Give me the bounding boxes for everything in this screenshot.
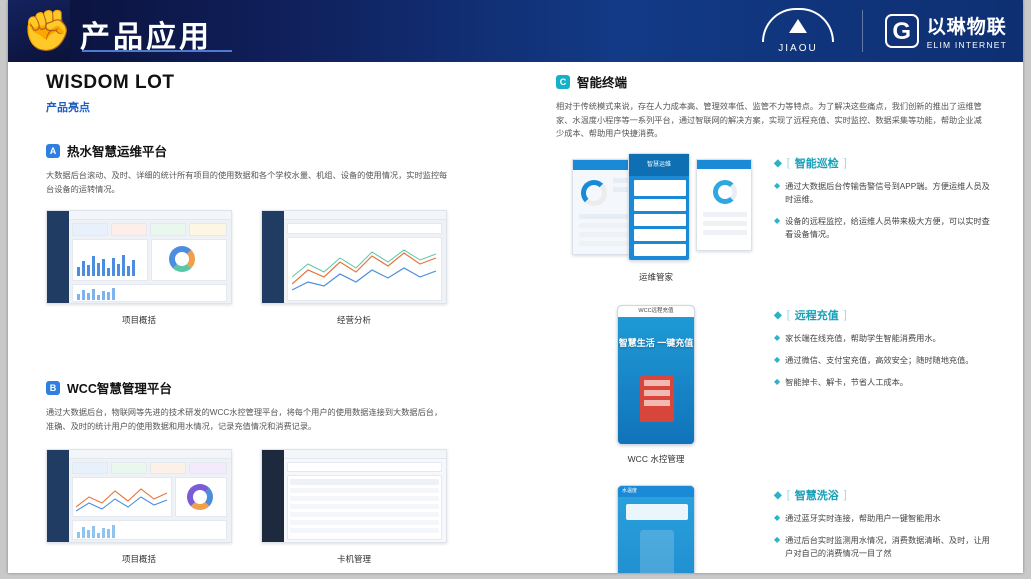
page-body: WISDOM LOT 产品亮点 A 热水智慧运维平台 大数据后台滚动、及时、详细…: [8, 62, 1023, 573]
ops-phone-title: 智慧运维: [629, 154, 689, 176]
section-c-header: C 智能终端: [556, 72, 996, 91]
bracket-right-icon: ]: [844, 157, 847, 169]
list-item: ◆ 通过后台实时监测用水情况，消费数据清晰、及时，让用户对自己的消费情况一目了然: [774, 534, 996, 560]
list-item-text: 通过大数据后台传输告警信号到APP端。方便运维人员及时运维。: [785, 180, 996, 206]
screenshot-image-business-analysis: [261, 210, 447, 304]
section-b-screenshots: 项目概括: [46, 449, 466, 565]
bullet-title-text: 智慧洗浴: [795, 487, 839, 503]
screenshot-temp-phone: 水温度: [617, 485, 695, 573]
mini-content: [284, 459, 446, 542]
temp-bullets: ◆ [ 智慧洗浴 ] ◆ 通过蓝牙实时连接，帮助用户一键智能用水 ◆ 通过后台实…: [774, 485, 996, 561]
diamond-icon: ◆: [774, 490, 782, 501]
list-item: ◆ 通过蓝牙实时连接，帮助用户一键智能用水: [774, 512, 996, 525]
bullet-dot-icon: ◆: [774, 332, 780, 345]
section-a-body: 大数据后台滚动、及时、详细的统计所有项目的使用数据和各个学校水量、机组、设备的使…: [46, 169, 450, 196]
screenshot-caption: 卡机管理: [261, 553, 447, 565]
elim-mark-icon: [885, 14, 919, 48]
section-b-title: WCC智慧管理平台: [67, 378, 172, 397]
line-chart-icon: [76, 483, 168, 513]
list-item-text: 通过蓝牙实时连接，帮助用户一键智能用水: [785, 512, 941, 525]
wisdom-subheading: 产品亮点: [46, 99, 466, 115]
terminal-caption: WCC 水控管理: [628, 453, 685, 465]
terminal-block-wcc: WCC远程充值 智慧生活 一键充值 WCC 水控管理 ◆ [ 远程充值: [556, 305, 996, 465]
screenshot-item: 项目概括: [46, 210, 232, 326]
jiaou-arc-icon: [762, 8, 834, 42]
bullet-title-text: 远程充值: [795, 307, 839, 323]
fist-icon: ✊: [22, 8, 56, 54]
screenshot-wcc-phone: WCC远程充值 智慧生活 一键充值: [617, 305, 695, 445]
screenshot-ops-detail: [696, 159, 752, 251]
jiaou-label: JIAOU: [751, 43, 845, 54]
ops-bullets: ◆ [ 智能巡检 ] ◆ 通过大数据后台传输告警信号到APP端。方便运维人员及时…: [774, 153, 996, 242]
diamond-icon: ◆: [774, 158, 782, 169]
section-a-title: 热水智慧运维平台: [67, 141, 167, 160]
bullet-dot-icon: ◆: [774, 512, 780, 525]
mini-sidebar: [47, 450, 69, 542]
screenshot-image-wcc-overview: [46, 449, 232, 543]
bracket-left-icon: [: [787, 309, 790, 321]
list-item: ◆ 家长端在线充值，帮助学生智能消费用水。: [774, 332, 996, 345]
wcc-phone-header: WCC远程充值: [618, 306, 694, 317]
bullet-dot-icon: ◆: [774, 215, 780, 241]
jiaou-logo: JIAOU: [751, 8, 845, 54]
list-item-text: 通过微信、支付宝充值，高效安全；随时随地充值。: [785, 354, 973, 367]
header-divider: [862, 10, 863, 52]
mini-topbar: [69, 211, 231, 220]
header-logo-block: ✊: [8, 0, 70, 62]
elim-name-cn: 以琳物联: [927, 12, 1007, 39]
bullet-dot-icon: ◆: [774, 534, 780, 560]
left-column: WISDOM LOT 产品亮点 A 热水智慧运维平台 大数据后台滚动、及时、详细…: [46, 62, 466, 565]
section-c-title: 智能终端: [577, 72, 627, 91]
section-a-badge: A: [46, 144, 60, 158]
screenshot-image-project-overview: [46, 210, 232, 304]
screenshot-caption: 经营分析: [261, 314, 447, 326]
bullet-dot-icon: ◆: [774, 376, 780, 389]
list-item: ◆ 智能掉卡、解卡，节省人工成本。: [774, 376, 996, 389]
section-c-body: 相对于传统模式来说，存在人力成本高、管理效率低、监管不力等特点。为了解决这些痛点…: [556, 100, 986, 141]
section-b-header: B WCC智慧管理平台: [46, 378, 466, 397]
mini-content: [284, 220, 446, 303]
slide-page: ✊ 产品应用 JIAOU 以琳物联 ELIM INTERNET WISDOM L…: [8, 0, 1023, 573]
section-c-badge: C: [556, 75, 570, 89]
section-a-header: A 热水智慧运维平台: [46, 141, 466, 160]
wcc-bullets: ◆ [ 远程充值 ] ◆ 家长端在线充值，帮助学生智能消费用水。 ◆ 通过微信、…: [774, 305, 996, 390]
wcc-phone-title: 智慧生活 一键充值: [618, 336, 694, 350]
diamond-icon: ◆: [774, 310, 782, 321]
mini-topbar: [69, 450, 231, 459]
bracket-left-icon: [: [787, 157, 790, 169]
mini-sidebar: [262, 211, 284, 303]
right-column: C 智能终端 相对于传统模式来说，存在人力成本高、管理效率低、监管不力等特点。为…: [556, 72, 996, 573]
bracket-right-icon: ]: [844, 489, 847, 501]
mini-content: [69, 220, 231, 303]
screenshot-ops-phone: 智慧运维: [628, 153, 690, 261]
list-item-text: 设备的远程监控，给运维人员带来极大方便，可以实时查看设备情况。: [785, 215, 996, 241]
mini-topbar: [284, 211, 446, 220]
list-item-text: 通过后台实时监测用水情况，消费数据清晰、及时，让用户对自己的消费情况一目了然: [785, 534, 996, 560]
bracket-right-icon: ]: [844, 309, 847, 321]
list-item-text: 智能掉卡、解卡，节省人工成本。: [785, 376, 908, 389]
terminal-block-temp: 水温度 水温度 ◆ [ 智慧洗浴 ]: [556, 485, 996, 573]
bracket-left-icon: [: [787, 489, 790, 501]
list-item-text: 家长端在线充值，帮助学生智能消费用水。: [785, 332, 941, 345]
bullet-title-temp: ◆ [ 智慧洗浴 ]: [774, 487, 847, 503]
terminal-block-ops: 智慧运维: [556, 153, 996, 283]
mini-content: [69, 459, 231, 542]
bullet-title-ops: ◆ [ 智能巡检 ]: [774, 155, 847, 171]
mini-sidebar: [47, 211, 69, 303]
section-b-body: 通过大数据后台，物联网等先进的技术研发的WCC水控管理平台，将每个用户的使用数据…: [46, 406, 450, 433]
elim-logo: 以琳物联 ELIM INTERNET: [885, 12, 1007, 50]
section-b-badge: B: [46, 381, 60, 395]
wisdom-heading: WISDOM LOT: [46, 72, 466, 94]
line-chart-icon: [292, 244, 438, 294]
screenshot-item: 项目概括: [46, 449, 232, 565]
title-underline: [82, 50, 232, 52]
screenshot-item: 卡机管理: [261, 449, 447, 565]
terminal-caption: 运维管家: [556, 271, 756, 283]
screenshot-image-card-machine: [261, 449, 447, 543]
screenshot-caption: 项目概括: [46, 553, 232, 565]
screenshot-caption: 项目概括: [46, 314, 232, 326]
list-item: ◆ 通过大数据后台传输告警信号到APP端。方便运维人员及时运维。: [774, 180, 996, 206]
bullet-dot-icon: ◆: [774, 180, 780, 206]
screenshot-item: 经营分析: [261, 210, 447, 326]
mini-topbar: [284, 450, 446, 459]
bullet-title-text: 智能巡检: [795, 155, 839, 171]
section-a-screenshots: 项目概括: [46, 210, 466, 326]
list-item: ◆ 设备的远程监控，给运维人员带来极大方便，可以实时查看设备情况。: [774, 215, 996, 241]
mini-sidebar: [262, 450, 284, 542]
list-item: ◆ 通过微信、支付宝充值，高效安全；随时随地充值。: [774, 354, 996, 367]
page-header: ✊ 产品应用 JIAOU 以琳物联 ELIM INTERNET: [8, 0, 1023, 62]
bullet-title-wcc: ◆ [ 远程充值 ]: [774, 307, 847, 323]
bullet-dot-icon: ◆: [774, 354, 780, 367]
elim-name-en: ELIM INTERNET: [927, 40, 1007, 50]
